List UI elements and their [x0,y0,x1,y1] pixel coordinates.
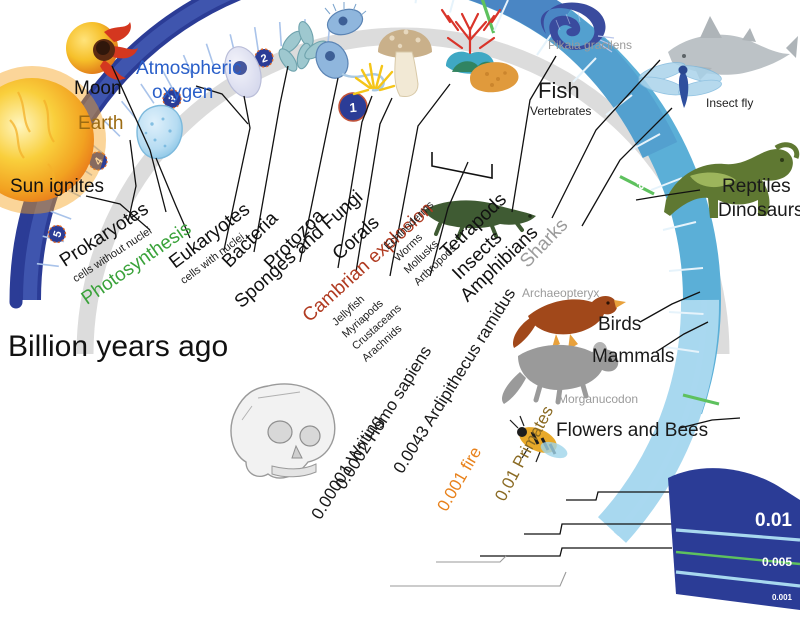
arc-marker-0-1: 0.1 [760,393,778,409]
arc-marker-0-5: 0.5 [489,100,506,118]
label-flowers-bees: Flowers and Bees [556,420,708,442]
label-atmospheric-oxygen-line2: oxygen [152,82,213,104]
label-moon: Moon [74,78,122,100]
label-fish-sub: Vertebrates [530,104,591,118]
leader-lines-light [390,556,566,586]
label-reptiles: Reptiles [722,176,791,198]
inset-tick-0-005: 0.005 [762,555,792,569]
inset-tick-0-001: 0.001 [772,593,793,602]
inset-tick-0-01: 0.01 [755,510,792,531]
label-mammals: Mammals [592,346,674,368]
zoom-inset: 0.01 0.005 0.001 [668,468,800,610]
label-pikaia: Pikaia gracilens [548,38,632,52]
label-earth: Earth [78,113,123,135]
arc-marker-1: 1 [349,100,357,115]
label-insect-fly: Insect fly [706,96,753,110]
label-sun-ignites: Sun ignites [10,176,104,198]
skull-icon [231,384,335,478]
label-fish: Fish [538,78,580,104]
label-atmospheric-oxygen-line1: Atmospheric [136,58,242,80]
timeline-diagram: 5 4 3 2 1 0.7 0.5 0.3 0.1 [0,0,800,620]
page-title: Billion years ago [8,330,228,364]
label-archaeopteryx: Archaeopteryx [522,286,599,300]
arc-marker-0-7: 0.7 [420,90,434,107]
label-morganucodon: Morganucodon [558,392,638,406]
label-birds: Birds [598,314,641,336]
earth-illustration [137,105,182,158]
label-dinosaurs: Dinosaurs [718,200,800,222]
cambrian-bracket [432,152,492,178]
